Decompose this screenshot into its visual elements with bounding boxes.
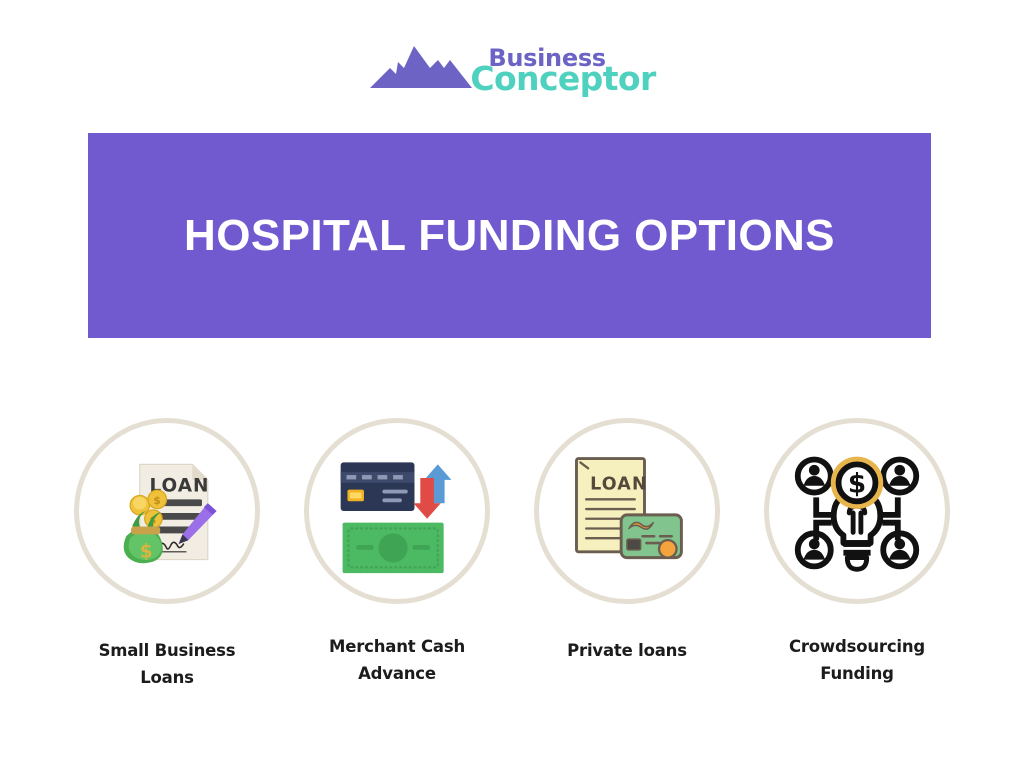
title-banner: HOSPITAL FUNDING OPTIONS	[88, 133, 931, 338]
svg-text:$: $	[848, 470, 866, 500]
mountain-peaks-icon	[368, 38, 476, 94]
funding-option-label-4: Crowdsourcing Funding	[762, 634, 952, 687]
funding-option-label-2: Merchant Cash Advance	[302, 634, 492, 687]
brand-logo-inner: Business Conceptor	[368, 34, 655, 96]
icon-circle-4: $	[764, 418, 950, 604]
funding-option-private-loans: LOAN Private lo	[522, 418, 732, 665]
brand-logo: Business Conceptor	[0, 30, 1024, 100]
funding-option-crowdsourcing-funding: $ Crowdsourcing Funding	[752, 418, 962, 687]
crowdfunding-lightbulb-people-icon: $	[789, 443, 925, 579]
loan-document-money-bag-icon: LOAN $ $	[99, 443, 235, 579]
credit-card-cash-exchange-icon	[329, 443, 465, 579]
icon-circle-2	[304, 418, 490, 604]
icon-circle-3: LOAN	[534, 418, 720, 604]
brand-name-conceptor: Conceptor	[470, 64, 655, 94]
funding-option-label-3: Private loans	[567, 638, 687, 665]
funding-option-label-1: Small Business Loans	[72, 638, 262, 691]
brand-wordmark: Business Conceptor	[470, 47, 655, 94]
funding-option-merchant-cash-advance: Merchant Cash Advance	[292, 418, 502, 687]
funding-option-small-business-loans: LOAN $ $	[62, 418, 272, 691]
icon-circle-1: LOAN $ $	[74, 418, 260, 604]
svg-text:$: $	[140, 542, 153, 563]
funding-options-row: LOAN $ $	[62, 418, 962, 691]
svg-text:$: $	[153, 494, 160, 507]
page-title: HOSPITAL FUNDING OPTIONS	[184, 211, 835, 261]
svg-text:LOAN: LOAN	[590, 475, 648, 495]
loan-document-credit-card-icon: LOAN	[559, 443, 695, 579]
